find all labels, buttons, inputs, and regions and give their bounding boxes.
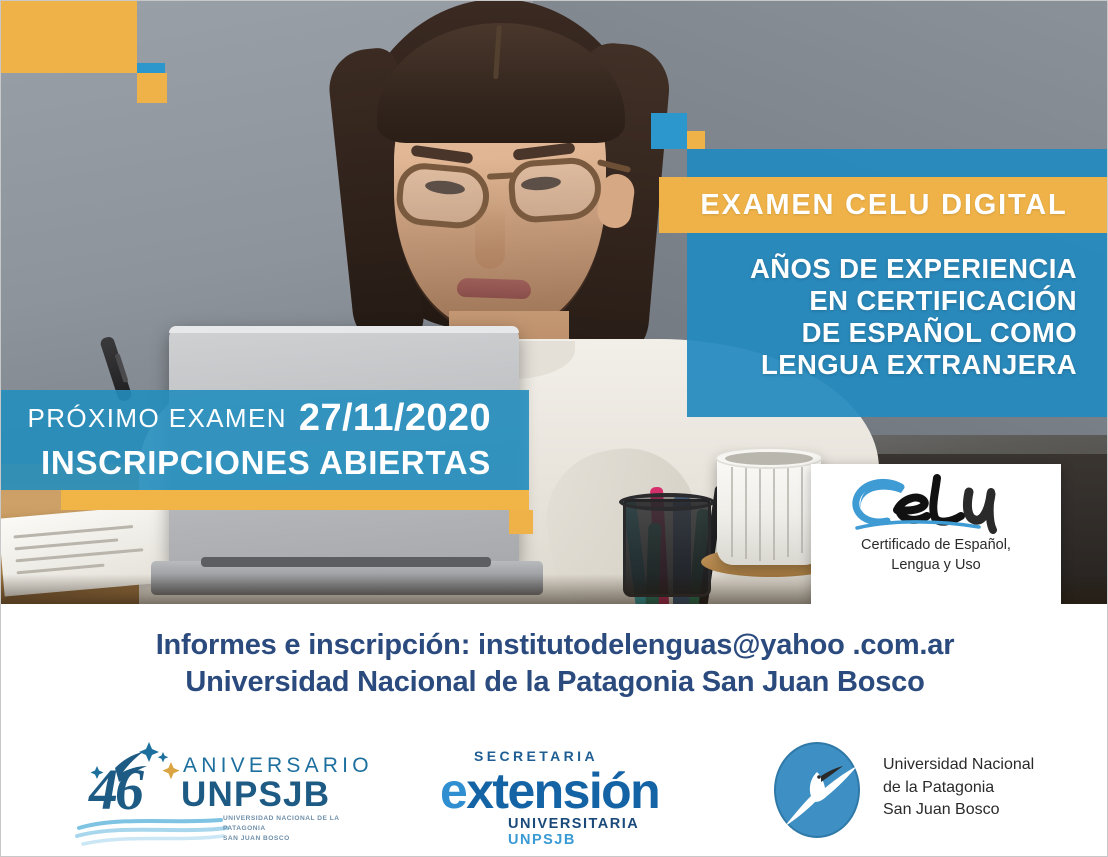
person-nose bbox=[475, 203, 505, 269]
contact-band: Informes e inscripción: institutodelengu… bbox=[1, 604, 1108, 724]
exam-description: AÑOS DE EXPERIENCIA EN CERTIFICACIÓN DE … bbox=[691, 253, 1091, 381]
celu-wordmark-icon bbox=[811, 468, 1061, 534]
university-seal-name-line: Universidad Nacional bbox=[883, 754, 1034, 777]
decor-square-orange-large bbox=[1, 1, 137, 73]
contact-university-line: Universidad Nacional de la Patagonia San… bbox=[185, 664, 924, 701]
university-seal-name-line: San Juan Bosco bbox=[883, 799, 1034, 822]
anniversary-acronym: UNPSJB bbox=[181, 775, 330, 815]
photo-laptop-lid-edge bbox=[169, 326, 519, 333]
decor-square-orange-small bbox=[137, 73, 167, 103]
extension-wordmark-e: e bbox=[440, 763, 466, 819]
university-seal-icon: UNIVERSIDAD NACIONAL DE LA PATAGONIA SAN… bbox=[761, 736, 873, 848]
banner-orange-underline bbox=[61, 490, 529, 510]
extension-logo: SECRETARIA extensión UNIVERSITARIA UNPSJ… bbox=[426, 724, 696, 857]
exam-description-line: EN CERTIFICACIÓN bbox=[691, 285, 1077, 317]
person-lips bbox=[457, 278, 532, 300]
anniversary-logo: 46 ANIVERSARIO UNPSJB UNIVERSIDAD NACION… bbox=[71, 724, 361, 857]
exam-description-line: DE ESPAÑOL COMO bbox=[691, 317, 1077, 349]
anniversary-footnote-line: SAN JUAN BOSCO bbox=[223, 834, 361, 844]
eyeglasses-icon bbox=[397, 157, 615, 229]
poster-root: EXAMEN CELU DIGITAL AÑOS DE EXPERIENCIA … bbox=[0, 0, 1108, 857]
logo-row: 46 ANIVERSARIO UNPSJB UNIVERSIDAD NACION… bbox=[1, 724, 1108, 857]
next-exam-label: PRÓXIMO EXAMEN bbox=[27, 403, 286, 433]
eyeglasses-lens-right bbox=[507, 156, 603, 224]
university-seal-name-line: de la Patagonia bbox=[883, 777, 1034, 800]
photo-pen-holder-rim bbox=[619, 493, 715, 511]
celu-logo-card: Certificado de Español, Lengua y Uso bbox=[811, 464, 1061, 604]
extension-subtitle-a: UNIVERSITARIA bbox=[508, 816, 639, 832]
university-seal-logo: UNIVERSIDAD NACIONAL DE LA PATAGONIA SAN… bbox=[753, 724, 1053, 857]
background-photo: EXAMEN CELU DIGITAL AÑOS DE EXPERIENCIA … bbox=[1, 1, 1108, 604]
next-exam-line: PRÓXIMO EXAMEN27/11/2020 bbox=[1, 397, 513, 440]
photo-mug bbox=[717, 453, 821, 565]
anniversary-footnote-line: UNIVERSIDAD NACIONAL DE LA PATAGONIA bbox=[223, 814, 361, 834]
anniversary-number: 46 bbox=[89, 756, 141, 823]
exam-title-text: EXAMEN CELU DIGITAL bbox=[700, 189, 1067, 222]
registration-status: INSCRIPCIONES ABIERTAS bbox=[1, 444, 513, 482]
decor-square-blue-top bbox=[651, 113, 687, 149]
extension-wordmark-rest: xtensión bbox=[466, 763, 659, 819]
decor-square-orange-top bbox=[687, 131, 705, 149]
celu-subtitle-line: Lengua y Uso bbox=[811, 556, 1061, 576]
university-seal-name: Universidad Nacional de la Patagonia San… bbox=[883, 754, 1034, 822]
exam-description-line: AÑOS DE EXPERIENCIA bbox=[691, 253, 1077, 285]
exam-description-line: LENGUA EXTRANJERA bbox=[691, 349, 1077, 381]
photo-laptop-hinge bbox=[201, 557, 491, 567]
anniversary-footnote: UNIVERSIDAD NACIONAL DE LA PATAGONIA SAN… bbox=[223, 814, 361, 845]
extension-subtitle-b: UNPSJB bbox=[508, 832, 576, 848]
extension-subtitle: UNIVERSITARIA UNPSJB bbox=[508, 816, 696, 848]
next-exam-date: 27/11/2020 bbox=[299, 397, 491, 439]
exam-title-bar: EXAMEN CELU DIGITAL bbox=[659, 177, 1108, 233]
contact-email-line: Informes e inscripción: institutodelengu… bbox=[156, 627, 955, 664]
extension-wordmark: extensión bbox=[440, 762, 659, 820]
celu-subtitle-line: Certificado de Español, bbox=[811, 536, 1061, 556]
celu-subtitle: Certificado de Español, Lengua y Uso bbox=[811, 536, 1061, 575]
banner-orange-accent-square bbox=[509, 510, 533, 534]
photo-mug-inner bbox=[725, 452, 813, 465]
